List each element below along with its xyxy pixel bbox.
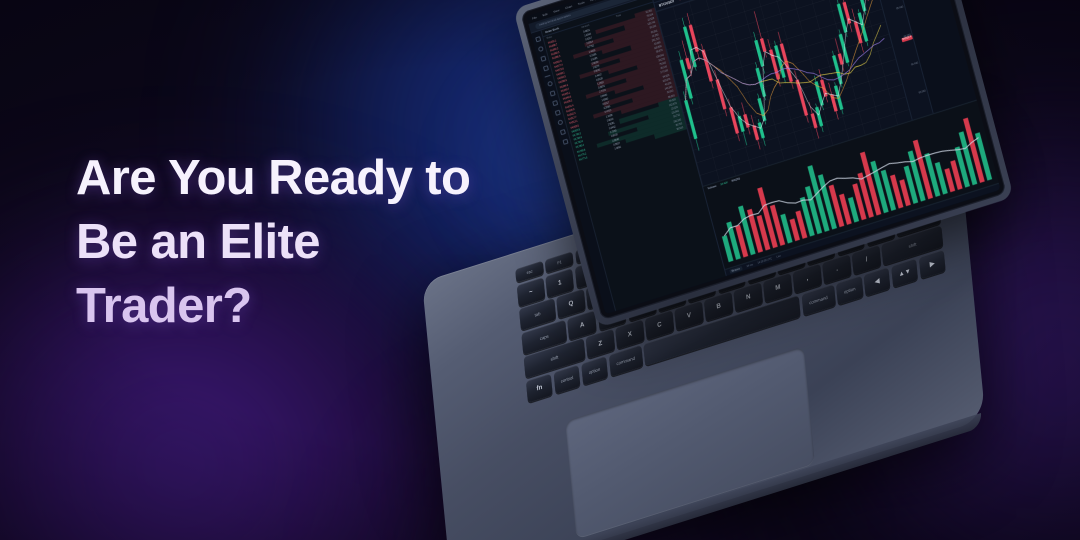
laptop-device: escF1F2F3F4F5F6F7F8F9F10F11F12⏻~12345678… <box>398 0 1080 540</box>
shapes-icon[interactable] <box>545 75 551 78</box>
measure-icon[interactable] <box>549 90 555 96</box>
text-icon[interactable] <box>547 81 553 87</box>
price-tick: 63,900 <box>918 89 926 94</box>
price-tick: 64,400 <box>911 62 919 67</box>
headline-line-2: Be an Elite <box>76 210 470 274</box>
alert-icon[interactable] <box>559 129 565 135</box>
eye-icon[interactable] <box>554 110 560 116</box>
key-fn[interactable]: fn <box>526 373 553 402</box>
key-[interactable]: ◀ <box>864 267 891 296</box>
menu-item-edit[interactable]: Edit <box>542 12 548 17</box>
price-tick: 65,400 <box>896 6 904 11</box>
key-option[interactable]: option <box>581 356 608 385</box>
magnet-icon[interactable] <box>552 100 558 106</box>
trendline-icon[interactable] <box>540 56 546 62</box>
menu-item-file[interactable]: File <box>532 15 538 20</box>
menu-item-view[interactable]: View <box>553 8 560 14</box>
key-option[interactable]: option <box>836 276 863 305</box>
key-[interactable]: ▲▼ <box>891 258 918 287</box>
headline-line-3: Trader? <box>76 274 470 338</box>
crosshair-icon[interactable] <box>537 46 543 52</box>
trash-icon[interactable] <box>562 139 568 145</box>
fib-icon[interactable] <box>542 65 548 71</box>
key-control[interactable]: control <box>553 365 580 394</box>
headline-line-1: Are You Ready to <box>76 146 470 210</box>
key-[interactable]: ▶ <box>919 250 946 279</box>
hero-headline: Are You Ready to Be an Elite Trader? <box>76 146 470 338</box>
lock-icon[interactable] <box>557 119 563 125</box>
cursor-icon[interactable] <box>535 36 541 42</box>
status-connection: Live <box>776 254 781 258</box>
hero-banner: Are You Ready to Be an Elite Trader? esc… <box>0 0 1080 540</box>
status-latency: 24 ms <box>746 263 753 268</box>
